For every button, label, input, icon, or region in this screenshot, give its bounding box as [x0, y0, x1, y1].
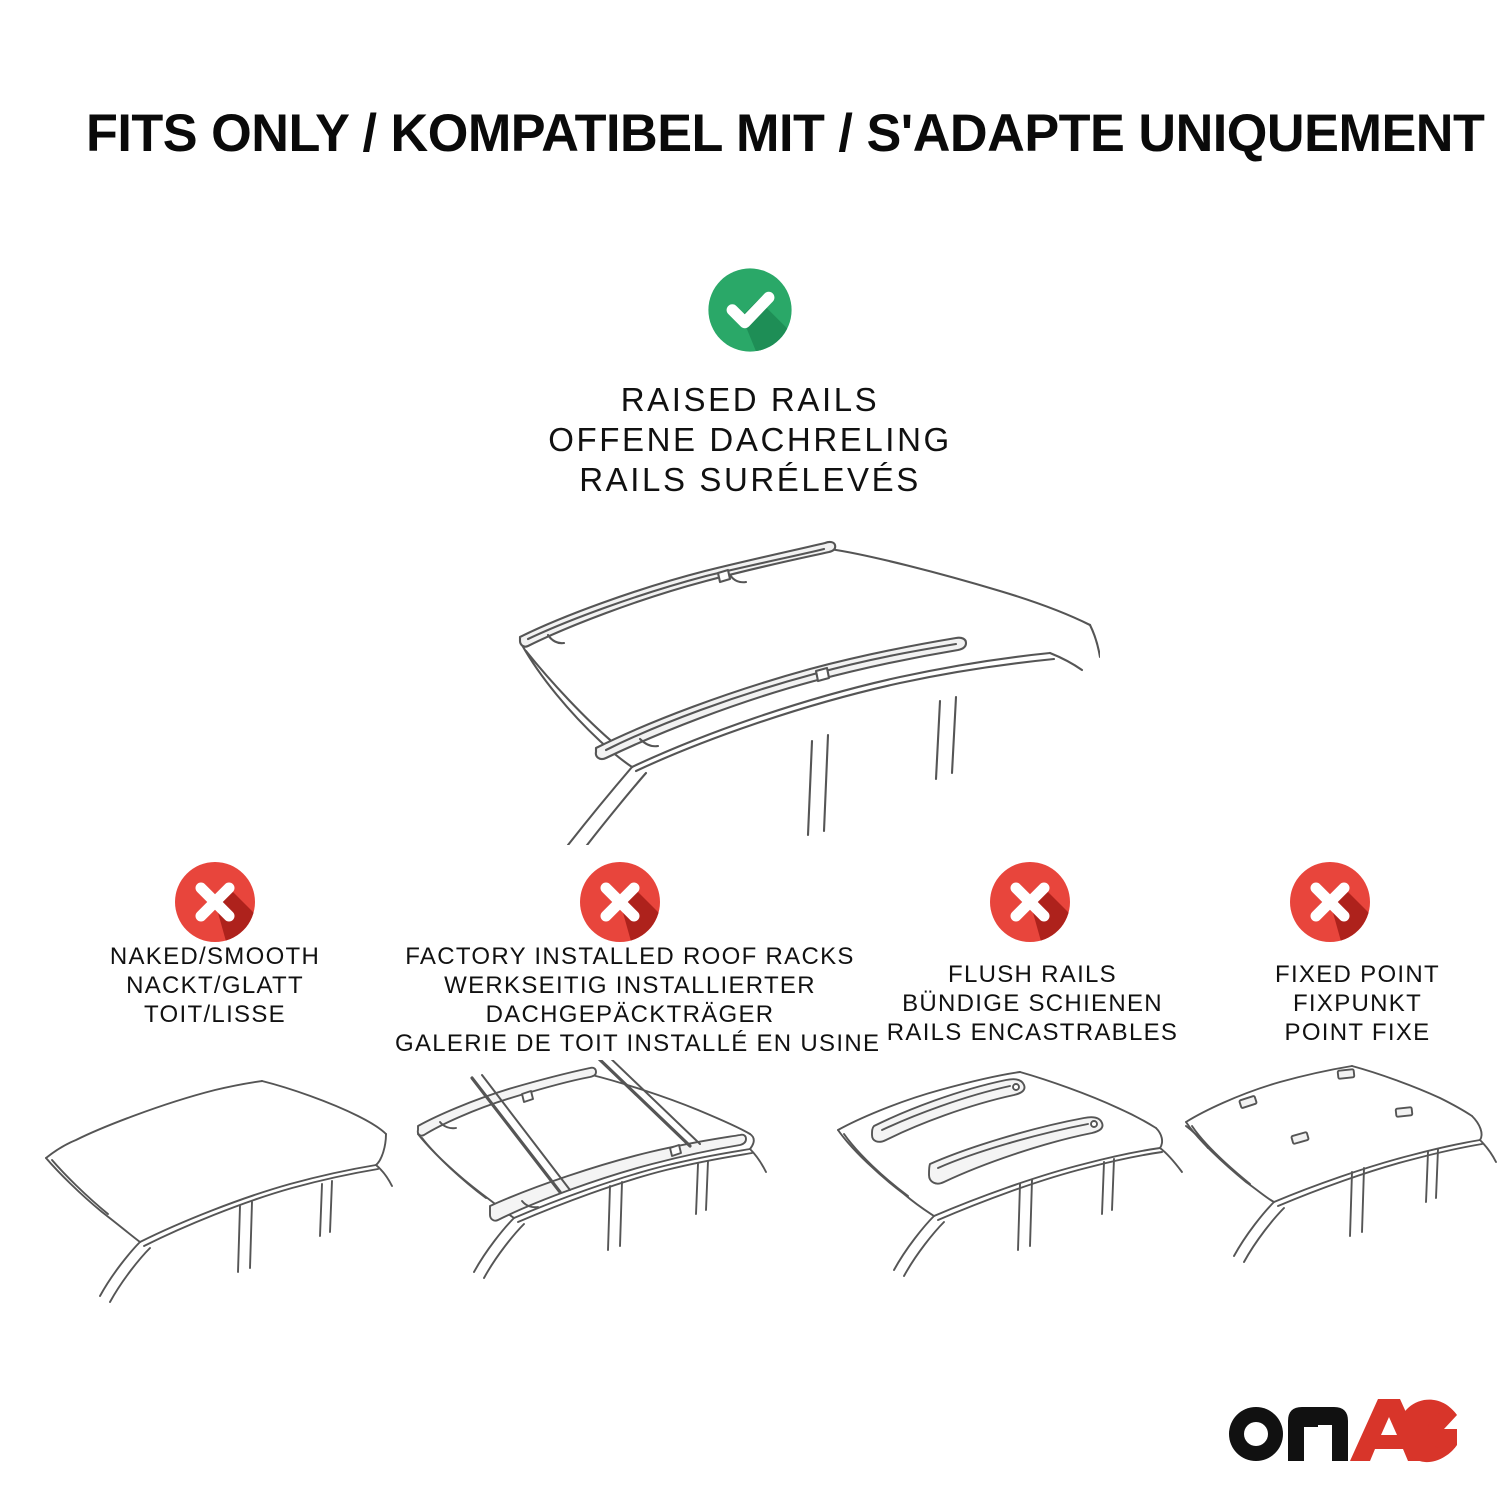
fitment-guide-page: FITS ONLY / KOMPATIBEL MIT / S'ADAPTE UN…	[0, 0, 1500, 1500]
incompatible-label-line-1: FACTORY INSTALLED ROOF RACKS	[395, 942, 865, 971]
incompatible-label-line-1: FLUSH RAILS	[860, 960, 1205, 989]
incompatible-label-factory-rack: FACTORY INSTALLED ROOF RACKS WERKSEITIG …	[395, 942, 865, 1058]
x-circle-icon	[980, 852, 1080, 952]
incompatible-label-line-2: NACKT/GLATT	[40, 971, 390, 1000]
incompatible-label-flush-rails: FLUSH RAILS BÜNDIGE SCHIENEN RAILS ENCAS…	[860, 960, 1205, 1047]
incompatible-label-line-3: DACHGEPÄCKTRÄGER	[395, 1000, 865, 1029]
x-circle-icon	[1280, 852, 1380, 952]
incompatible-label-line-3: RAILS ENCASTRABLES	[860, 1018, 1205, 1047]
incompatible-label-line-2: FIXPUNKT	[1215, 989, 1500, 1018]
incompatible-label-line-3: TOIT/LISSE	[40, 1000, 390, 1029]
incompatible-label-line-2: WERKSEITIG INSTALLIERTER	[395, 971, 865, 1000]
compatible-label-line-2: OFFENE DACHRELING	[430, 420, 1070, 460]
incompatible-label-line-1: NAKED/SMOOTH	[40, 942, 390, 971]
incompatible-label-line-1: FIXED POINT	[1215, 960, 1500, 989]
car-roof-factory-rack-illustration	[410, 1060, 800, 1310]
incompatible-label-fixed-point: FIXED POINT FIXPUNKT POINT FIXE	[1215, 960, 1500, 1047]
compatible-label-line-3: RAILS SURÉLEVÉS	[430, 460, 1070, 500]
incompatible-label-line-3: POINT FIXE	[1215, 1018, 1500, 1047]
car-roof-raised-rails-illustration	[400, 505, 1100, 845]
x-circle-icon	[165, 852, 265, 952]
compatible-label-line-1: RAISED RAILS	[430, 380, 1070, 420]
car-roof-naked-smooth-illustration	[40, 1060, 410, 1310]
compatible-label: RAISED RAILS OFFENE DACHRELING RAILS SUR…	[430, 380, 1070, 500]
x-circle-icon	[570, 852, 670, 952]
car-roof-flush-rails-illustration	[830, 1060, 1210, 1310]
check-circle-icon	[698, 258, 802, 362]
incompatible-label-line-4: GALERIE DE TOIT INSTALLÉ EN USINE	[395, 1029, 865, 1058]
incompatible-label-line-2: BÜNDIGE SCHIENEN	[860, 989, 1205, 1018]
car-roof-fixed-point-illustration	[1180, 1060, 1500, 1310]
incompatible-label-naked-smooth: NAKED/SMOOTH NACKT/GLATT TOIT/LISSE	[40, 942, 390, 1029]
page-title: FITS ONLY / KOMPATIBEL MIT / S'ADAPTE UN…	[86, 104, 1406, 164]
omac-logo	[1222, 1393, 1457, 1465]
